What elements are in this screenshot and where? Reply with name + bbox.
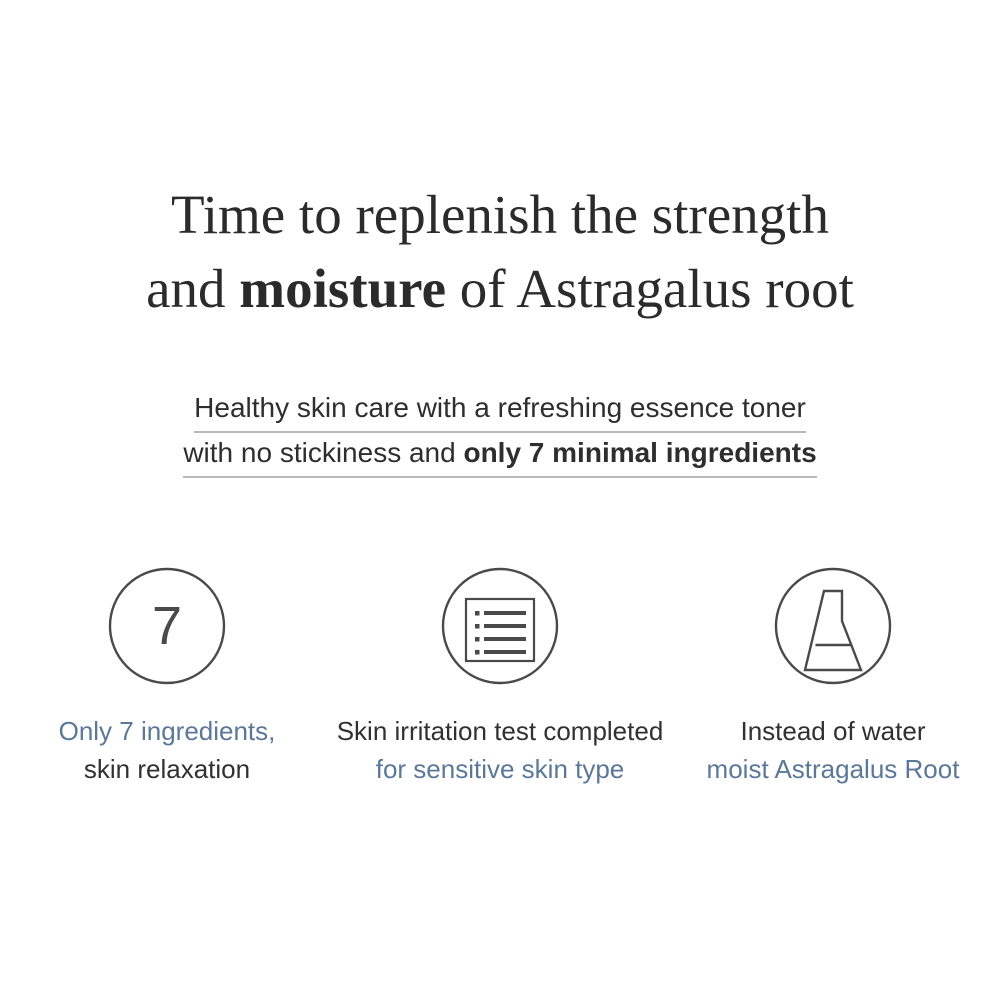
document-checklist-icon — [440, 566, 560, 686]
svg-text:7: 7 — [152, 596, 182, 656]
feature-caption-line-2: moist Astragalus Root — [707, 750, 960, 788]
page-subtitle-line-2: with no stickiness and only 7 minimal in… — [0, 433, 1000, 478]
page-subtitle-line-1: Healthy skin care with a refreshing esse… — [0, 388, 1000, 433]
feature-item-astragalus-root: Instead of water moist Astragalus Root — [667, 566, 1000, 788]
page-subtitle-line-2-prefix: with no stickiness and — [183, 437, 463, 468]
feature-caption-irritation-test: Skin irritation test completed for sensi… — [337, 712, 664, 788]
feature-caption-line-2: for sensitive skin type — [337, 750, 664, 788]
feature-item-irritation-test: Skin irritation test completed for sensi… — [334, 566, 667, 788]
page-subtitle-line-2-text: with no stickiness and only 7 minimal in… — [183, 433, 816, 478]
feature-caption-line-2: skin relaxation — [59, 750, 276, 788]
feature-list: 7 Only 7 ingredients, skin relaxation — [0, 566, 1000, 788]
promo-banner: Time to replenish the strength and moist… — [0, 0, 1000, 1000]
erlenmeyer-flask-icon — [773, 566, 893, 686]
feature-caption-ingredients: Only 7 ingredients, skin relaxation — [59, 712, 276, 788]
page-title-line-1: Time to replenish the strength — [0, 178, 1000, 252]
page-title: Time to replenish the strength and moist… — [0, 178, 1000, 326]
page-title-line-2-suffix: of Astragalus root — [446, 258, 854, 319]
feature-caption-line-1: Only 7 ingredients, — [59, 712, 276, 750]
feature-caption-line-1: Instead of water — [707, 712, 960, 750]
feature-caption-astragalus-root: Instead of water moist Astragalus Root — [707, 712, 960, 788]
page-subtitle: Healthy skin care with a refreshing esse… — [0, 388, 1000, 478]
page-title-emphasis: moisture — [239, 258, 446, 319]
feature-caption-line-1: Skin irritation test completed — [337, 712, 664, 750]
page-subtitle-line-1-text: Healthy skin care with a refreshing esse… — [194, 388, 806, 433]
page-subtitle-emphasis: only 7 minimal ingredients — [463, 437, 816, 468]
page-title-line-2-prefix: and — [146, 258, 239, 319]
page-title-line-2: and moisture of Astragalus root — [0, 252, 1000, 326]
feature-item-ingredients: 7 Only 7 ingredients, skin relaxation — [1, 566, 334, 788]
circle-number-seven-icon: 7 — [107, 566, 227, 686]
